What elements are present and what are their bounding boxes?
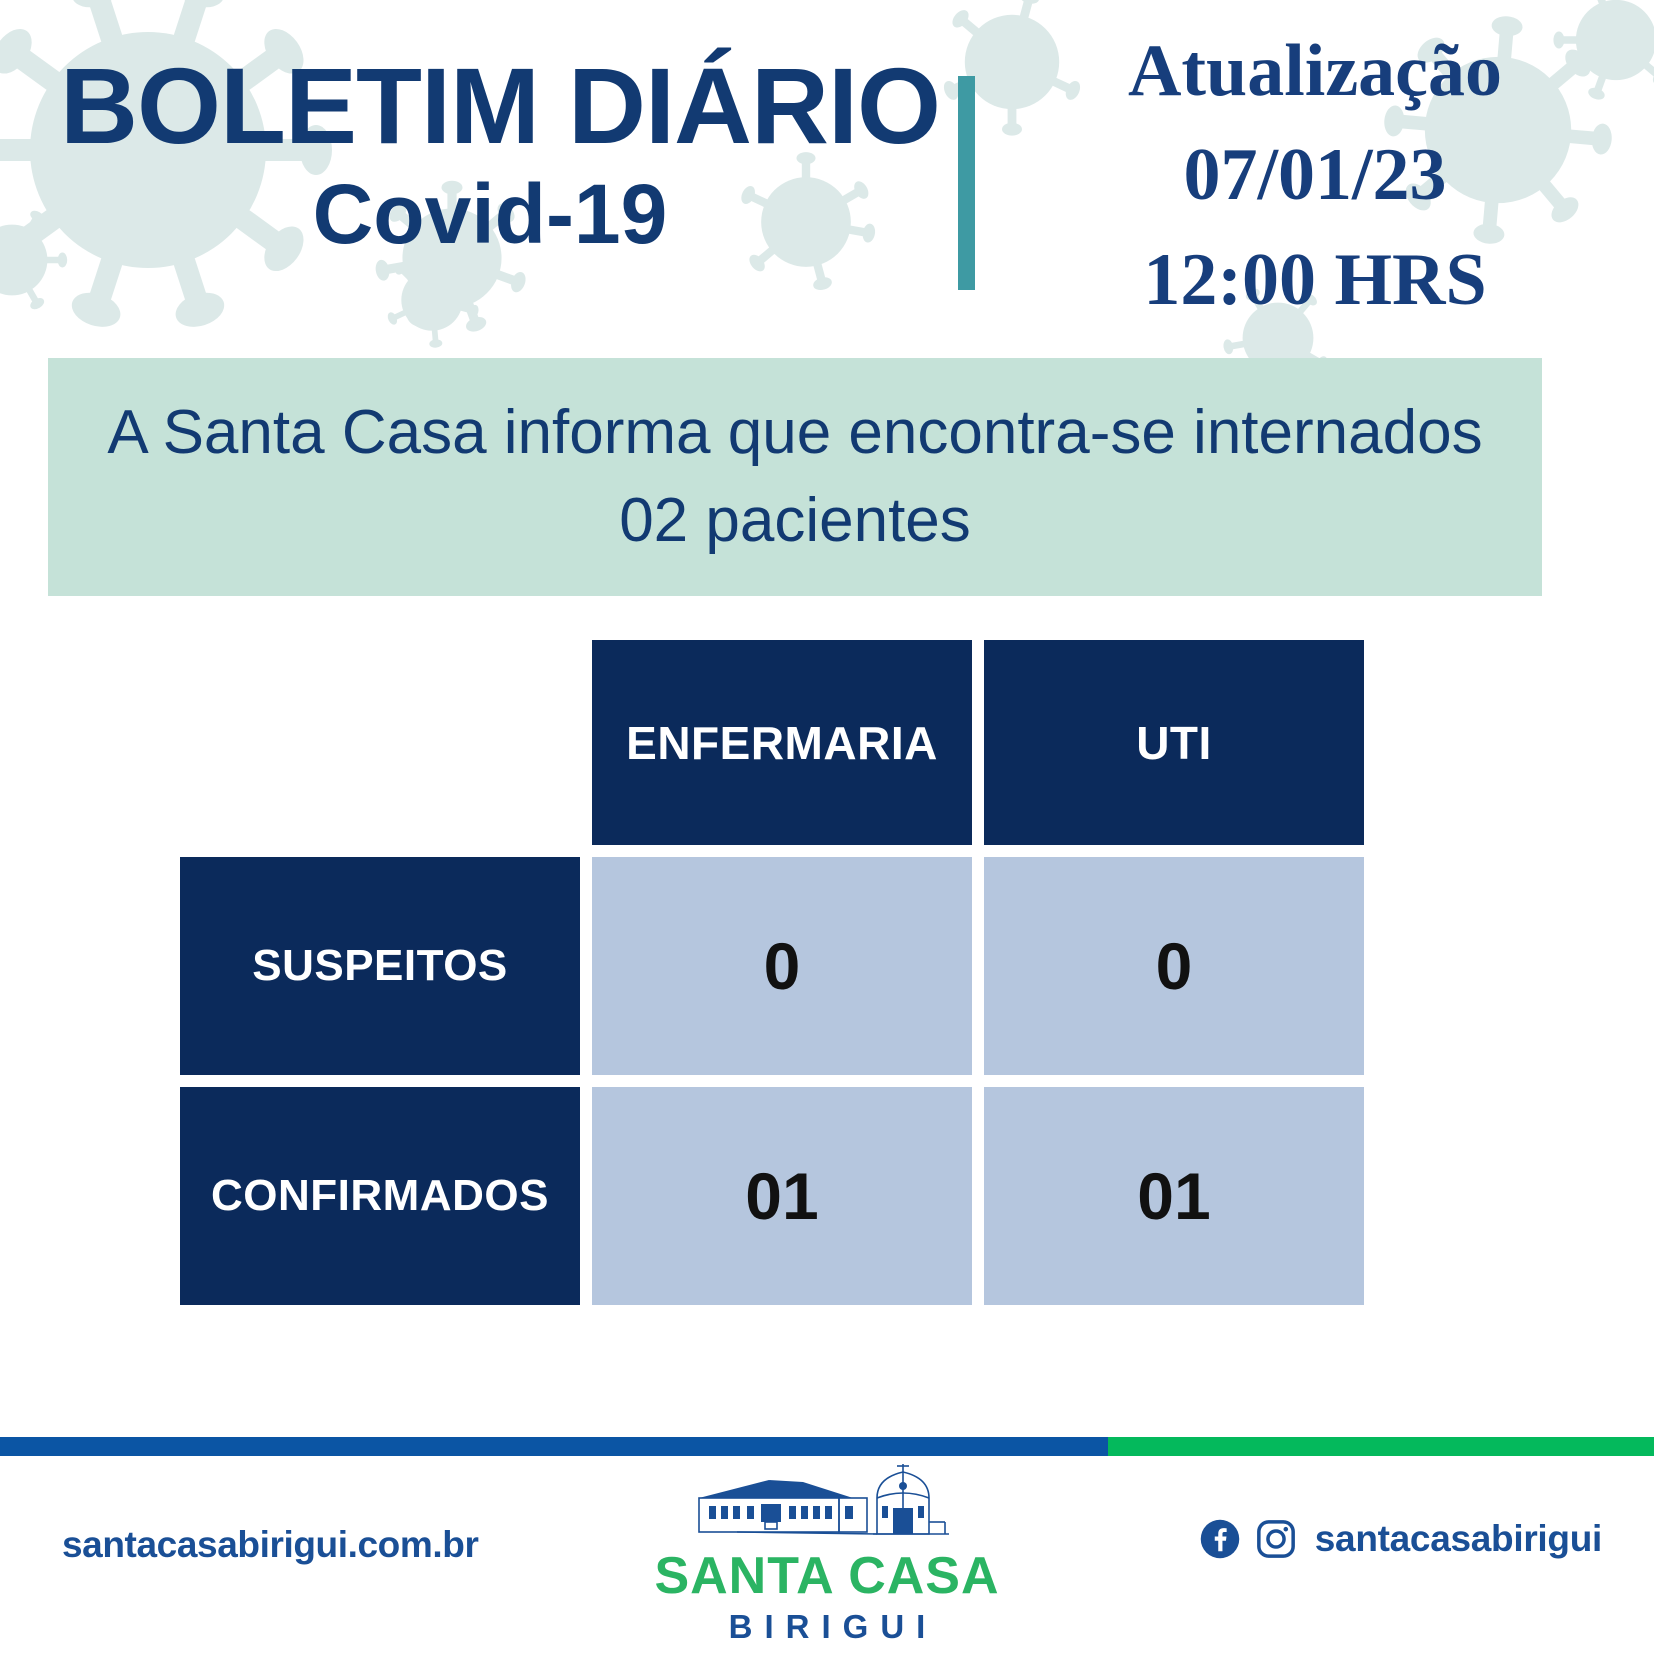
column-header-uti: UTI — [984, 640, 1364, 845]
title-subtitle: Covid-19 — [60, 166, 920, 263]
table-corner-cell — [180, 640, 580, 845]
facebook-icon[interactable] — [1199, 1518, 1241, 1560]
row-label-confirmados: CONFIRMADOS — [180, 1087, 580, 1305]
footer-bar-green-segment — [1108, 1437, 1654, 1456]
row-gap — [180, 845, 1370, 857]
header-vertical-divider — [958, 76, 975, 290]
title-main: BOLETIM DIÁRIO — [60, 52, 920, 160]
website-link[interactable]: santacasabirigui.com.br — [62, 1524, 478, 1566]
update-time: 12:00 HRS — [1000, 235, 1630, 325]
column-header-enfermaria: ENFERMARIA — [592, 640, 972, 845]
footer-divider-bar — [0, 1437, 1654, 1456]
page-title: BOLETIM DIÁRIO Covid-19 — [60, 52, 920, 263]
occupancy-table: ENFERMARIA UTI SUSPEITOS 0 0 CONFIRMADOS… — [180, 640, 1370, 1300]
update-info: Atualização 07/01/23 12:00 HRS — [1000, 26, 1630, 325]
info-banner: A Santa Casa informa que encontra-se int… — [48, 358, 1542, 596]
logo-name: SANTA CASA — [637, 1550, 1017, 1602]
social-links[interactable]: santacasabirigui — [1199, 1518, 1602, 1560]
table-row: CONFIRMADOS 01 01 — [180, 1087, 1370, 1305]
social-handle[interactable]: santacasabirigui — [1315, 1518, 1602, 1560]
hospital-building-icon — [677, 1464, 977, 1548]
footer-bar-blue-segment — [0, 1437, 1108, 1456]
cell-confirmados-uti: 01 — [984, 1087, 1364, 1305]
logo-city: BIRIGUI — [637, 1610, 1017, 1643]
info-banner-text: A Santa Casa informa que encontra-se int… — [48, 389, 1542, 565]
santa-casa-logo: SANTA CASA BIRIGUI — [637, 1464, 1017, 1643]
table-header-row: ENFERMARIA UTI — [180, 640, 1370, 845]
instagram-icon[interactable] — [1255, 1518, 1297, 1560]
cell-suspeitos-uti: 0 — [984, 857, 1364, 1075]
table-row: SUSPEITOS 0 0 — [180, 857, 1370, 1075]
cell-confirmados-enfermaria: 01 — [592, 1087, 972, 1305]
cell-suspeitos-enfermaria: 0 — [592, 857, 972, 1075]
row-label-suspeitos: SUSPEITOS — [180, 857, 580, 1075]
update-label: Atualização — [1000, 26, 1630, 116]
update-date: 07/01/23 — [1000, 130, 1630, 220]
footer: santacasabirigui.com.br — [0, 1456, 1654, 1654]
row-gap — [180, 1075, 1370, 1087]
